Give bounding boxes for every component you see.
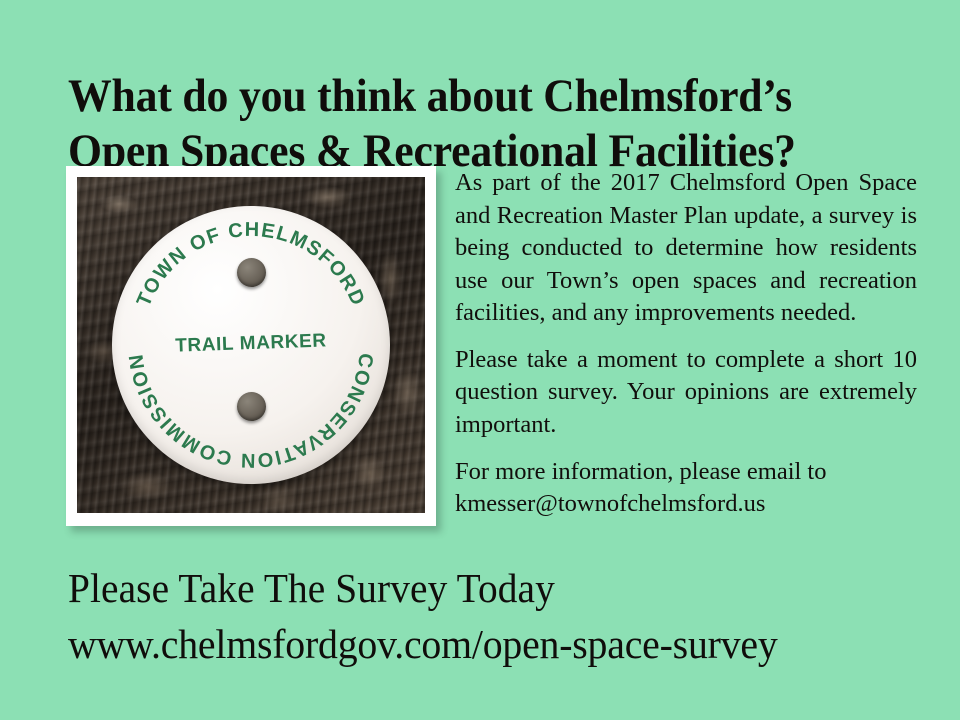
- disk-screw-bottom-icon: [237, 392, 266, 421]
- body-copy: As part of the 2017 Chelmsford Open Spac…: [455, 167, 917, 521]
- flyer-canvas: What do you think about Chelmsford’s Ope…: [0, 0, 960, 720]
- call-to-action: Please Take The Survey Today www.chelmsf…: [68, 563, 948, 669]
- survey-url[interactable]: www.chelmsfordgov.com/open-space-survey: [68, 619, 922, 669]
- trail-marker-photo: TOWN OF CHELMSFORD CONSERVATION COMMISSI…: [66, 166, 436, 526]
- body-paragraph-2: Please take a moment to complete a short…: [455, 344, 917, 442]
- body-paragraph-1: As part of the 2017 Chelmsford Open Spac…: [455, 167, 917, 330]
- trail-marker-disk: TOWN OF CHELMSFORD CONSERVATION COMMISSI…: [112, 206, 390, 484]
- body-paragraph-3-contact: For more information, please email to km…: [455, 456, 917, 521]
- tree-bark-background: TOWN OF CHELMSFORD CONSERVATION COMMISSI…: [77, 177, 425, 513]
- cta-headline: Please Take The Survey Today: [68, 563, 913, 613]
- page-title: What do you think about Chelmsford’s Ope…: [68, 69, 883, 179]
- disk-screw-top-icon: [237, 258, 266, 287]
